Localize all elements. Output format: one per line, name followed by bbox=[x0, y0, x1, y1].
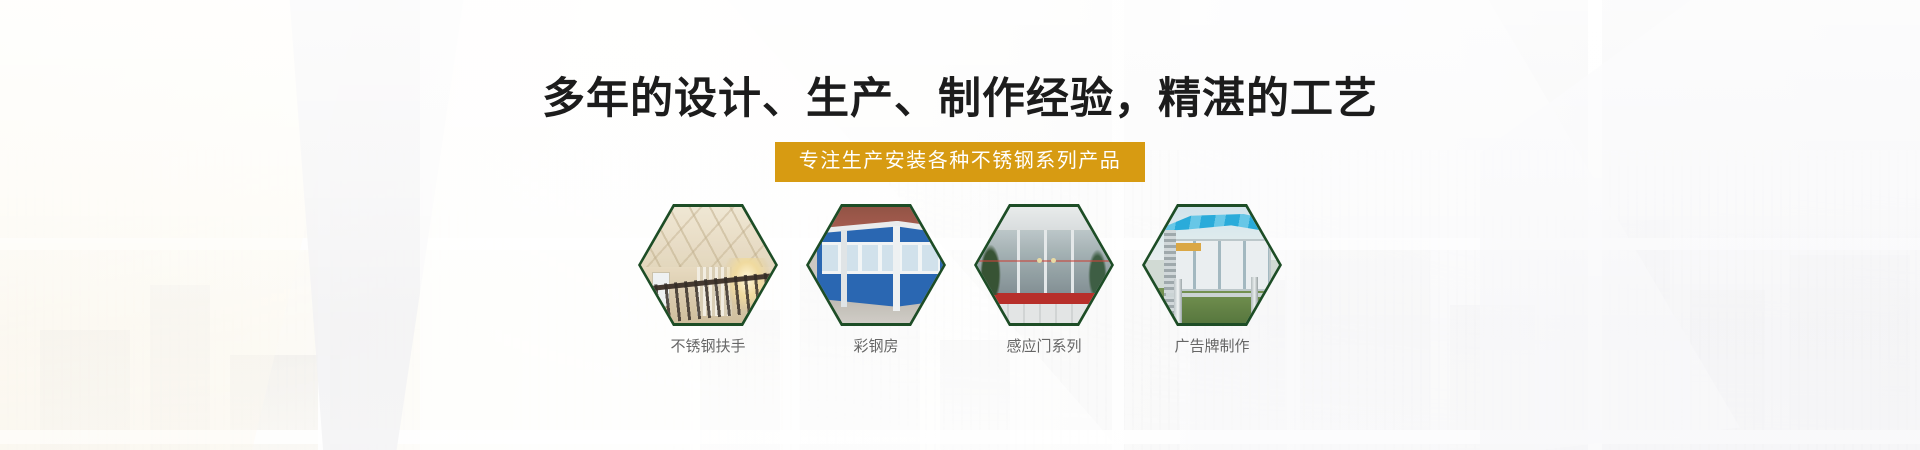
product-item-sensor-door[interactable]: 感应门系列 bbox=[974, 204, 1114, 354]
hexagon-frame[interactable] bbox=[638, 204, 778, 326]
product-label: 感应门系列 bbox=[1006, 339, 1081, 354]
product-label: 不锈钢扶手 bbox=[670, 339, 745, 354]
product-label: 彩钢房 bbox=[853, 339, 898, 354]
hexagon-frame[interactable] bbox=[974, 204, 1114, 326]
banner-subtitle-badge: 专注生产安装各种不锈钢系列产品 bbox=[775, 142, 1146, 182]
product-hexagon-row: 不锈钢扶手 bbox=[638, 204, 1282, 354]
hexagon-photo-sensor-door bbox=[977, 207, 1111, 323]
banner-headline: 多年的设计、生产、制作经验，精湛的工艺 bbox=[542, 78, 1378, 121]
hexagon-photo-cabin bbox=[809, 207, 943, 323]
promo-banner: 多年的设计、生产、制作经验，精湛的工艺 专注生产安装各种不锈钢系列产品 bbox=[0, 0, 1920, 450]
product-item-stainless-handrail[interactable]: 不锈钢扶手 bbox=[638, 204, 778, 354]
hexagon-frame[interactable] bbox=[1142, 204, 1282, 326]
product-label: 广告牌制作 bbox=[1174, 339, 1249, 354]
hexagon-photo-billboard bbox=[1145, 207, 1279, 323]
banner-content: 多年的设计、生产、制作经验，精湛的工艺 专注生产安装各种不锈钢系列产品 bbox=[0, 0, 1920, 450]
hexagon-photo-handrail bbox=[641, 207, 775, 323]
product-item-colour-steel-house[interactable]: 彩钢房 bbox=[806, 204, 946, 354]
product-item-billboard[interactable]: 广告牌制作 bbox=[1142, 204, 1282, 354]
hexagon-frame[interactable] bbox=[806, 204, 946, 326]
